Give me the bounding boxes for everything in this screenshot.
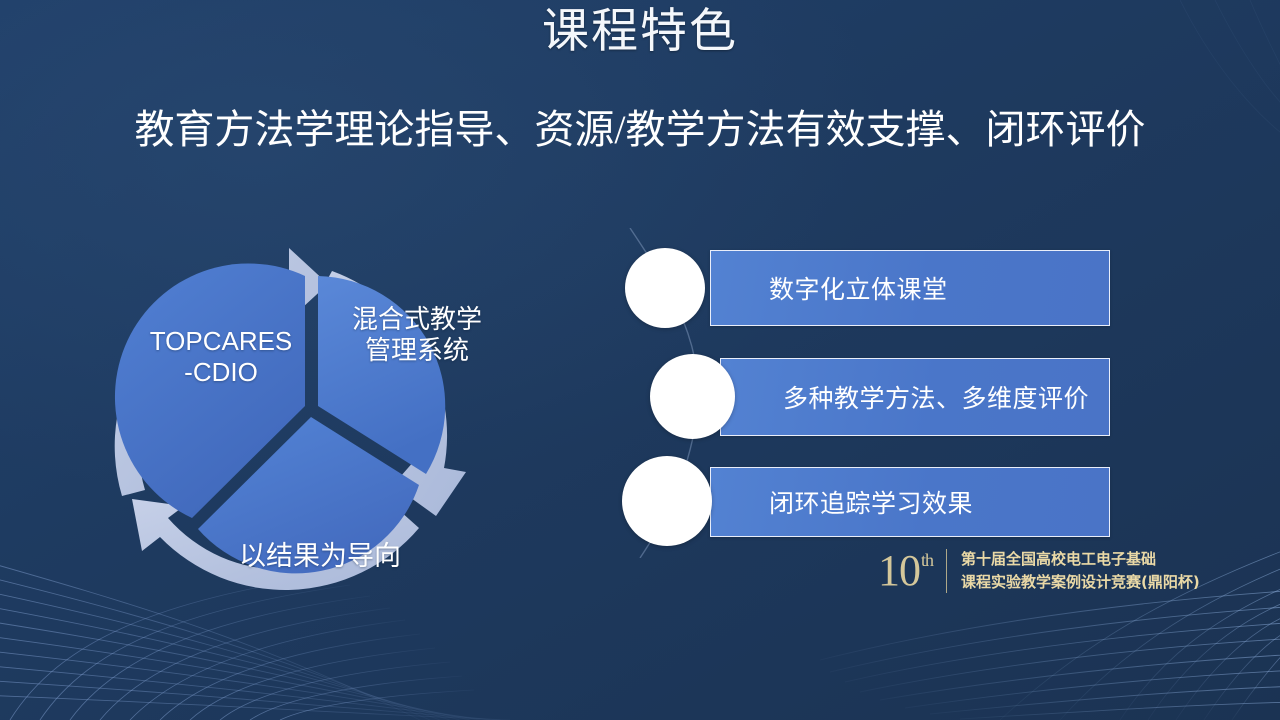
bullet-circle-icon (625, 248, 705, 328)
slide-canvas: 课程特色 教育方法学理论指导、资源/教学方法有效支撑、闭环评价 (0, 0, 1280, 720)
feature-bar-closed-loop-tracking[interactable]: 闭环追踪学习效果 (710, 467, 1110, 537)
logo-edition-number: 10th (878, 549, 932, 593)
logo-caption-line1: 第十届全国高校电工电子基础 (961, 548, 1200, 571)
feature-label: 闭环追踪学习效果 (769, 484, 973, 520)
feature-bar-multi-method-evaluation[interactable]: 多种教学方法、多维度评价 (720, 358, 1110, 436)
logo-ordinal: th (921, 551, 933, 569)
competition-logo: 10th 第十届全国高校电工电子基础 课程实验教学案例设计竞赛(鼎阳杯) (878, 548, 1200, 595)
logo-caption-line2: 课程实验教学案例设计竞赛(鼎阳杯) (961, 571, 1200, 594)
feature-label: 数字化立体课堂 (769, 270, 948, 306)
feature-bar-digital-classroom[interactable]: 数字化立体课堂 (710, 250, 1110, 326)
feature-list: 数字化立体课堂 多种教学方法、多维度评价 闭环追踪学习效果 (600, 228, 1160, 558)
logo-caption: 第十届全国高校电工电子基础 课程实验教学案例设计竞赛(鼎阳杯) (961, 548, 1200, 595)
feature-label: 多种教学方法、多维度评价 (783, 379, 1089, 415)
page-title: 课程特色 (0, 4, 1280, 58)
logo-divider (946, 549, 947, 593)
cycle-diagram: TOPCARES -CDIO 混合式教学管理系统 以结果为导向 (70, 196, 570, 616)
cycle-graphic (70, 196, 570, 616)
bullet-circle-icon (650, 354, 735, 439)
logo-number: 10 (878, 549, 920, 593)
bullet-circle-icon (622, 456, 712, 546)
page-subtitle: 教育方法学理论指导、资源/教学方法有效支撑、闭环评价 (0, 106, 1280, 154)
